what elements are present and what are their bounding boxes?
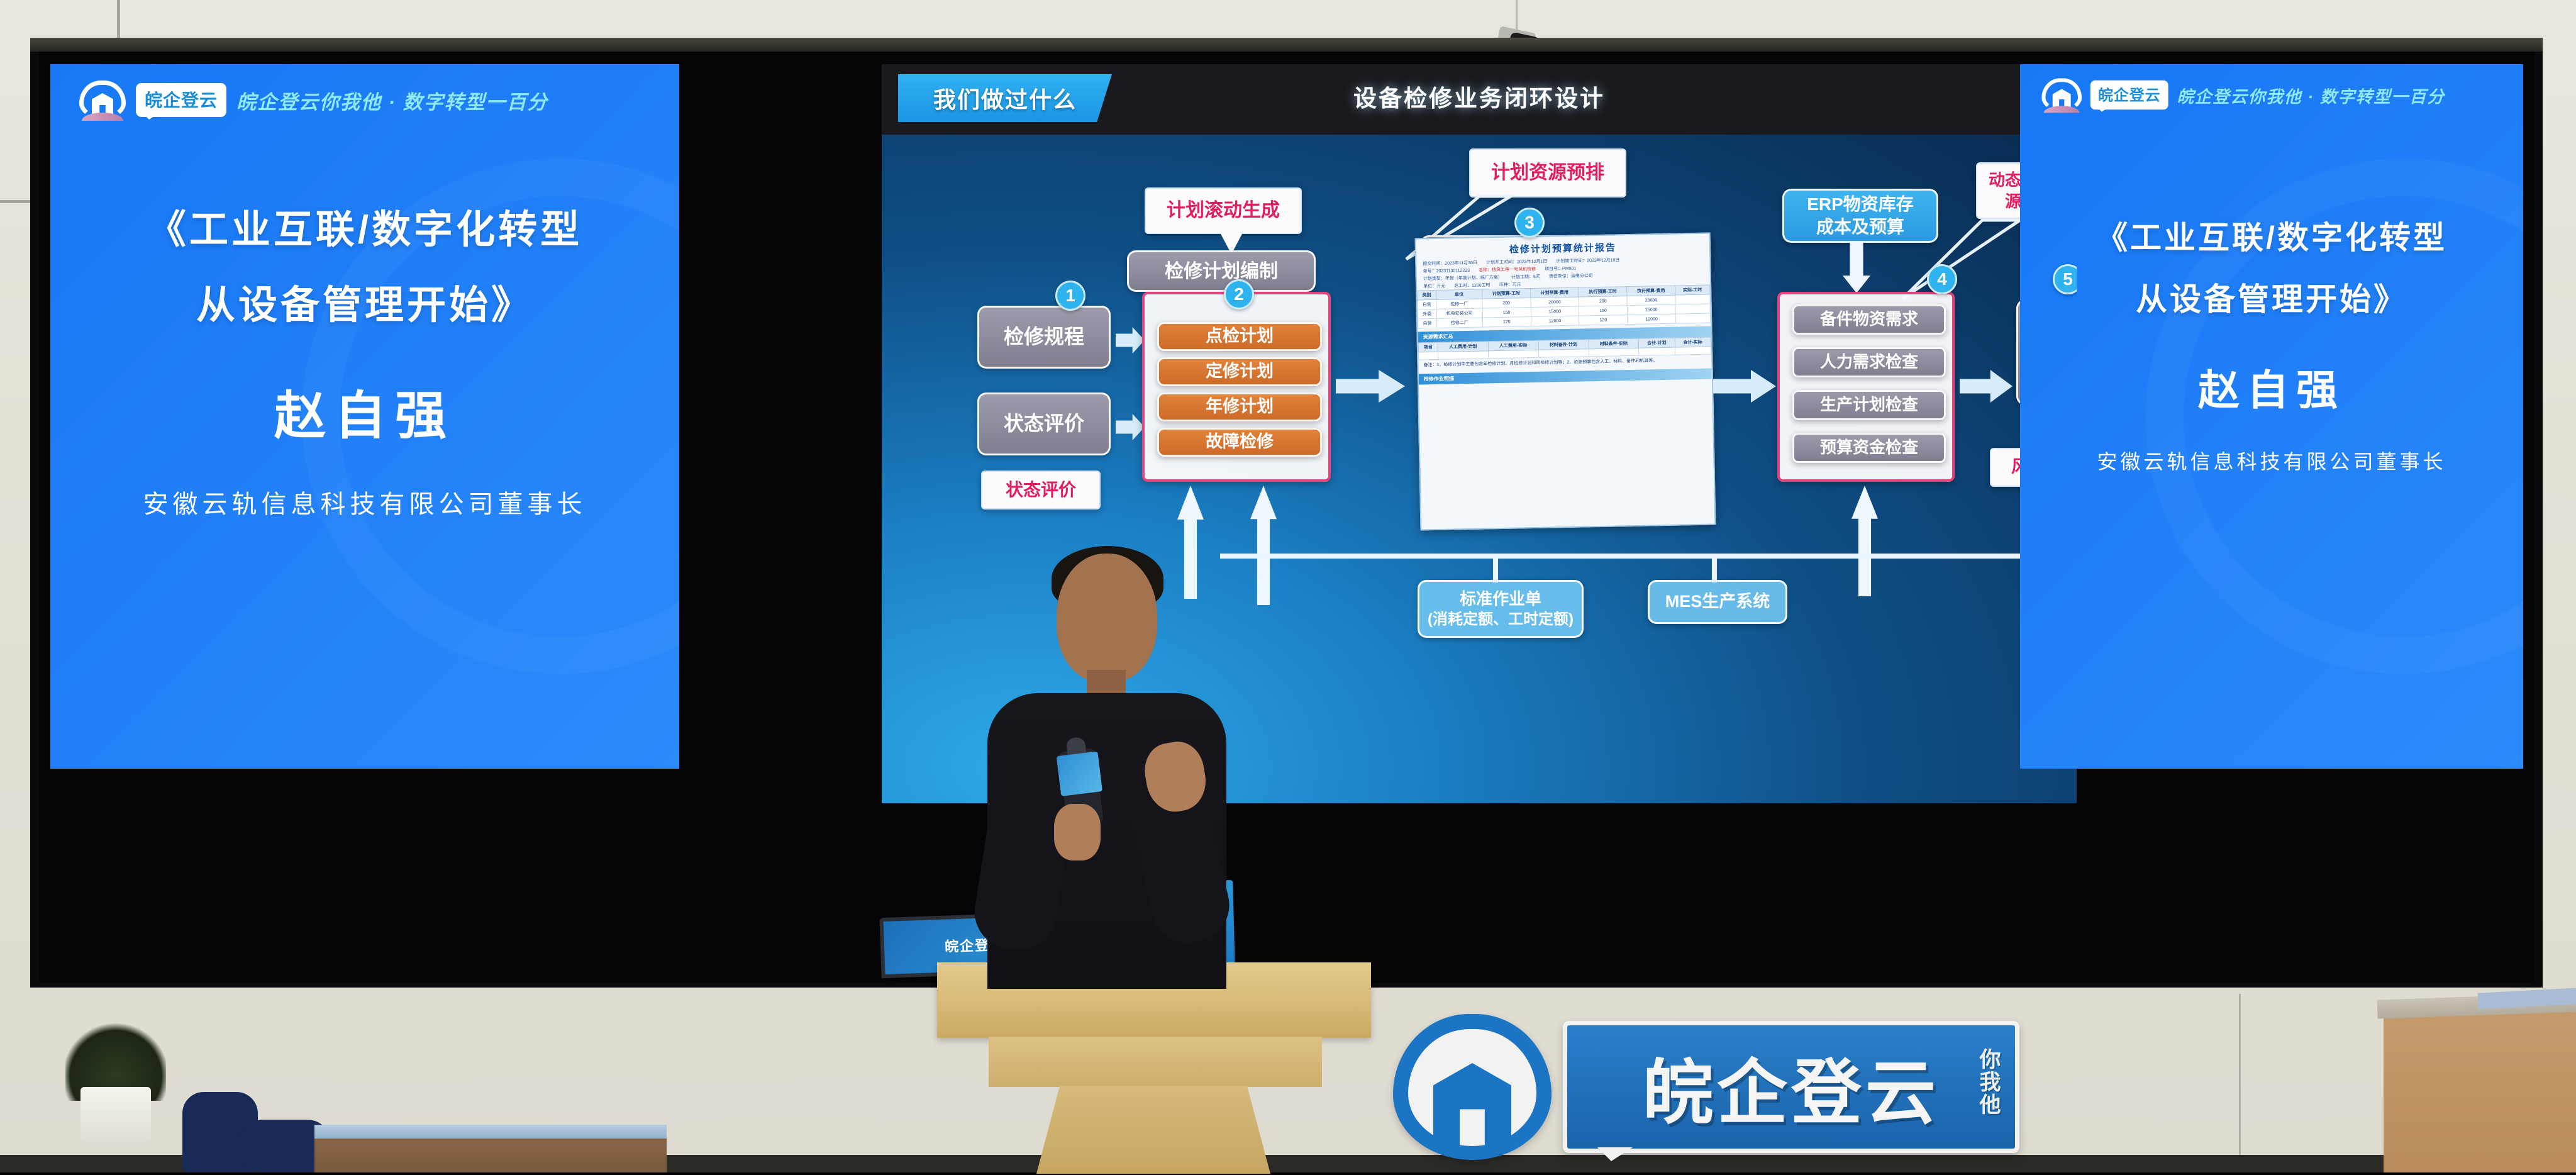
conn-std-up — [1493, 554, 1498, 582]
arrow-up-to-resource — [1851, 486, 1878, 596]
callout-status-eval: 状态评价 — [981, 471, 1101, 510]
node-mes-system: MES生产系统 — [1648, 580, 1787, 624]
side-desk — [2384, 1006, 2576, 1172]
plan-item-1: 定修计划 — [1157, 357, 1322, 386]
potted-plant-pot — [80, 1087, 151, 1145]
node-plan-compile: 检修计划编制 — [1127, 250, 1316, 292]
speaker-podium: 皖企登云 皖企登云 你我他 主题沙龙 — [937, 962, 1371, 1172]
node-inspection-spec: 检修规程 — [977, 306, 1111, 369]
panel-title-line1: 《工业互联/数字化转型 — [2020, 214, 2523, 263]
badge-4: 4 — [1927, 264, 1957, 294]
brand-bar-left: 皖企登云 皖企登云你我他 · 数字转型一百分 — [50, 64, 679, 120]
callout-leader-line-2 — [1901, 218, 2026, 303]
th-3: 计划预算-费用 — [1530, 287, 1579, 298]
arrow-plan-to-budget — [1336, 370, 1405, 403]
cloud-arch-logo-icon — [1393, 1014, 1552, 1160]
resource-group-container: 备件物资需求 人力需求检查 生产计划检查 预算资金检查 — [1777, 292, 1955, 482]
right-title-panel: 皖企登云 皖企登云你我他 · 数字转型一百分 《工业互联/数字化转型 从设备管理… — [2020, 64, 2523, 769]
speaker-name: 赵自强 — [50, 374, 679, 448]
arrow-erp-down — [1843, 242, 1870, 293]
logo-chip: 皖企登云 — [136, 83, 226, 117]
conn-mes-up — [1712, 554, 1717, 582]
cloud-arch-logo-icon — [79, 81, 126, 120]
slide-title: 设备检修业务闭环设计 — [882, 79, 2077, 113]
presenter-head — [1057, 554, 1157, 682]
wall-bezel — [30, 38, 2543, 52]
panel-title-line2: 从设备管理开始》 — [50, 276, 679, 336]
callout-rolling-plan: 计划滚动生成 — [1145, 187, 1302, 234]
node-status-eval: 状态评价 — [977, 393, 1111, 455]
sign-small-text: 你我他 — [1973, 1048, 2004, 1116]
th-0: 类别 — [1418, 290, 1436, 300]
sign-main-text: 皖企登云 — [1643, 1036, 1940, 1138]
th-2: 计划预算-工时 — [1482, 289, 1530, 299]
app-shot-section-3: 检修作业明细 — [1419, 369, 1712, 385]
cloud-arch-logo-icon — [2041, 78, 2082, 111]
arrow-resource-to-risk — [1960, 370, 2012, 403]
speaker-name: 赵自强 — [2020, 357, 2523, 417]
badge-2: 2 — [1224, 279, 1254, 309]
plan-item-0: 点检计划 — [1157, 322, 1322, 351]
resource-item-1: 人力需求检查 — [1792, 347, 1946, 377]
conference-room-background: 皖企登云 皖企登云你我他 · 数字转型一百分 《工业互联/数字化转型 从设备管理… — [0, 0, 2576, 1172]
resource-item-3: 预算资金检查 — [1792, 433, 1946, 463]
brand-tagline: 皖企登云你我他 · 数字转型一百分 — [2177, 83, 2445, 108]
arrow-up-to-plan-b — [1250, 486, 1277, 605]
badge-3: 3 — [1514, 208, 1545, 238]
floor-brand-sign: 皖企登云 你我他 — [1393, 1001, 2060, 1172]
embedded-app-screenshot: 检修计划预算统计报告 提交时间：2023年11月30日 计划开工时间：2023年… — [1415, 233, 1716, 531]
th-4: 执行预算-工时 — [1579, 287, 1627, 297]
panel-title-line1: 《工业互联/数字化转型 — [50, 200, 679, 260]
arrow-spec-to-plan — [1116, 327, 1145, 354]
logo-chip-label: 皖企登云 — [145, 87, 218, 112]
brand-tagline: 皖企登云你我他 · 数字转型一百分 — [236, 86, 548, 114]
logo-chip: 皖企登云 — [2090, 81, 2168, 109]
sign-plate: 皖企登云 你我他 — [1563, 1021, 2019, 1153]
logo-chip-label: 皖企登云 — [2098, 84, 2161, 105]
node-std-work-order: 标准作业单 (消耗定额、工时定额) — [1418, 580, 1584, 638]
resource-item-0: 备件物资需求 — [1792, 304, 1946, 335]
risk-loop-horizontal — [1220, 554, 2073, 559]
speaker-affiliation: 安徽云轨信息科技有限公司董事长 — [2020, 446, 2523, 475]
arrow-budget-to-resource — [1713, 370, 1776, 403]
th-1: 单位 — [1436, 289, 1482, 299]
callout-resource-schedule: 计划资源预排 — [1469, 148, 1626, 198]
led-video-wall: 皖企登云 皖企登云你我他 · 数字转型一百分 《工业互联/数字化转型 从设备管理… — [30, 38, 2543, 988]
brand-bar-right: 皖企登云 皖企登云你我他 · 数字转型一百分 — [2020, 64, 2453, 112]
th-6: 实际-工时 — [1675, 285, 1710, 295]
plan-item-2: 年修计划 — [1157, 393, 1322, 421]
podium-base — [1036, 1086, 1270, 1174]
arrow-eval-to-plan — [1116, 414, 1145, 440]
app-shot-table: 类别 单位 计划预算-工时 计划预算-费用 执行预算-工时 执行预算-费用 实际… — [1417, 285, 1711, 329]
th-5: 执行预算-费用 — [1627, 286, 1675, 296]
panel-title-line2: 从设备管理开始》 — [2020, 276, 2523, 325]
speaker-affiliation: 安徽云轨信息科技有限公司董事长 — [50, 484, 679, 520]
resource-item-2: 生产计划检查 — [1792, 390, 1946, 420]
wall-seam — [2239, 994, 2241, 1157]
front-row-desk — [314, 1125, 667, 1172]
plan-item-3: 故障检修 — [1157, 428, 1322, 457]
video-wall-screen: 皖企登云 皖企登云你我他 · 数字转型一百分 《工业互联/数字化转型 从设备管理… — [39, 52, 2534, 983]
presenter-person — [981, 554, 1226, 994]
badge-1: 1 — [1055, 281, 1085, 311]
left-title-panel: 皖企登云 皖企登云你我他 · 数字转型一百分 《工业互联/数字化转型 从设备管理… — [50, 64, 679, 769]
presenter-left-hand — [1054, 804, 1101, 860]
plan-group-container: 2 点检计划 定修计划 年修计划 故障检修 — [1142, 292, 1331, 482]
podium-middle — [989, 1037, 1322, 1087]
